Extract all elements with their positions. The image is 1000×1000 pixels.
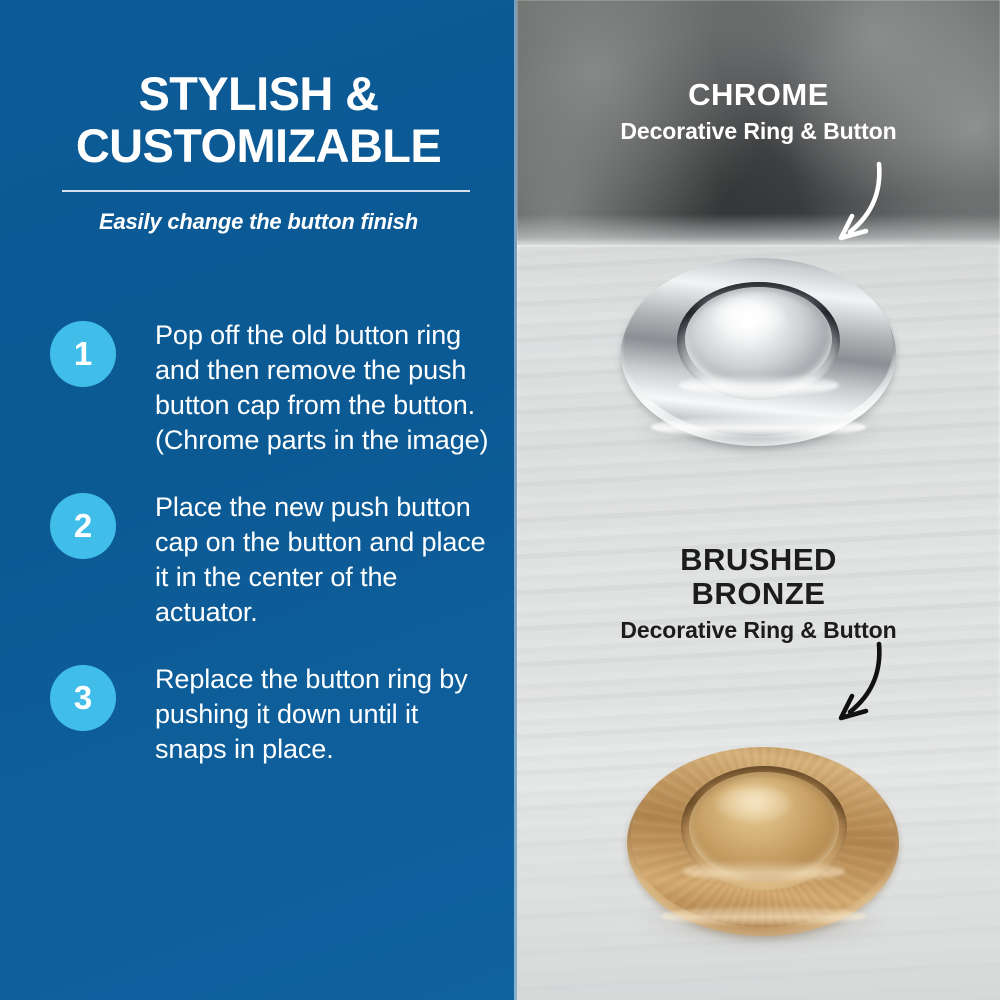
- chrome-ring-highlight: [679, 374, 839, 396]
- curved-arrow-down-left-icon: [817, 158, 897, 255]
- headline-line-1: STYLISH &: [138, 67, 378, 120]
- chrome-label-subtitle: Decorative Ring & Button: [517, 117, 1000, 145]
- chrome-cap-highlight: [713, 300, 785, 336]
- step-text: Place the new push button cap on the but…: [116, 490, 517, 630]
- headline-line-2: CUSTOMIZABLE: [0, 120, 517, 172]
- bronze-label-title-line-2: BRONZE: [517, 577, 1000, 611]
- instructions-panel: STYLISH & CUSTOMIZABLE Easily change the…: [0, 0, 517, 1000]
- step-text: Replace the button ring by pushing it do…: [116, 662, 517, 767]
- steps-list: 1 Pop off the old button ring and then r…: [0, 318, 517, 799]
- step-number-badge: 2: [50, 493, 116, 559]
- product-photo-panel: CHROME Decorative Ring & Button BRUSHED …: [517, 0, 1000, 1000]
- list-item: 2 Place the new push button cap on the b…: [0, 490, 517, 630]
- brushed-bronze-push-button-disc: [627, 738, 899, 946]
- step-number-badge: 3: [50, 665, 116, 731]
- bronze-ring-highlight: [683, 860, 845, 882]
- bronze-label: BRUSHED BRONZE Decorative Ring & Button: [517, 543, 1000, 644]
- step-text: Pop off the old button ring and then rem…: [116, 318, 517, 458]
- page-subtitle: Easily change the button finish: [0, 209, 517, 235]
- chrome-bottom-highlight: [651, 416, 866, 438]
- chrome-label: CHROME Decorative Ring & Button: [517, 78, 1000, 145]
- step-number-badge: 1: [50, 321, 116, 387]
- list-item: 1 Pop off the old button ring and then r…: [0, 318, 517, 458]
- bronze-label-title-line-1: BRUSHED: [517, 543, 1000, 577]
- curved-arrow-down-left-icon: [817, 638, 897, 735]
- backdrop-glow: [517, 214, 1000, 248]
- page-title: STYLISH & CUSTOMIZABLE: [0, 68, 517, 172]
- list-item: 3 Replace the button ring by pushing it …: [0, 662, 517, 767]
- bronze-cap-highlight: [717, 786, 791, 822]
- bronze-label-subtitle: Decorative Ring & Button: [517, 616, 1000, 644]
- bronze-bottom-highlight: [661, 906, 866, 926]
- title-divider: [62, 190, 470, 192]
- chrome-label-title: CHROME: [517, 78, 1000, 112]
- product-infographic: STYLISH & CUSTOMIZABLE Easily change the…: [0, 0, 1000, 1000]
- chrome-push-button-disc: [621, 248, 896, 453]
